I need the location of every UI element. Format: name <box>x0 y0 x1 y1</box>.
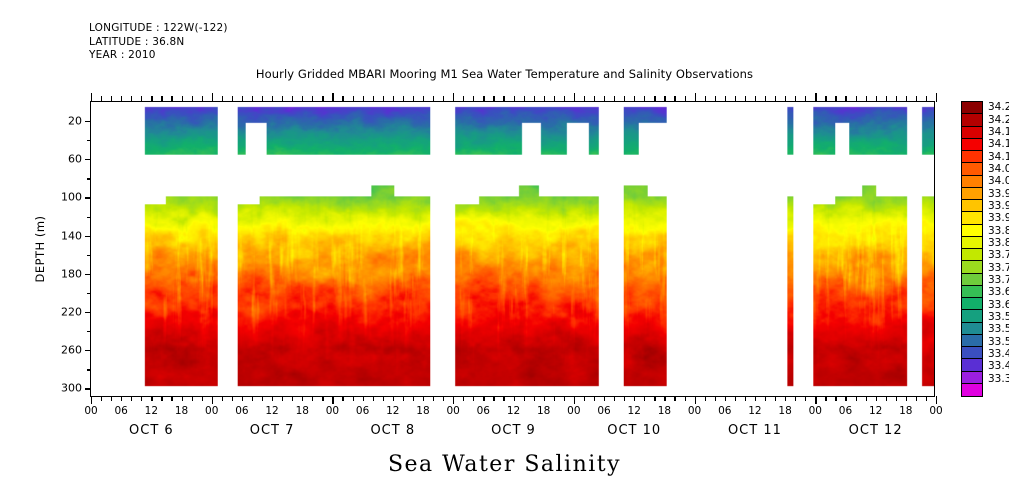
y-tick-label: 220 <box>61 306 82 319</box>
x-tick-top <box>614 96 615 102</box>
x-tick-top <box>342 96 343 102</box>
colorbar-tick-label: 33.46 <box>988 348 1009 360</box>
x-tick-top <box>725 96 726 102</box>
colorbar-tick-label: 33.82 <box>988 237 1009 249</box>
colorbar-swatch <box>962 176 982 188</box>
colorbar-tick-label: 33.86 <box>988 225 1009 237</box>
latitude-text: LATITUDE : 36.8N <box>89 36 228 50</box>
x-tick <box>685 396 686 401</box>
x-tick-top <box>262 96 263 102</box>
x-tick-top <box>654 96 655 102</box>
x-major-tick <box>815 396 816 404</box>
x-tick-top <box>916 96 917 102</box>
y-tick-label: 100 <box>61 191 82 204</box>
x-tick <box>232 396 233 401</box>
x-tick-top <box>423 96 424 102</box>
x-tick <box>141 396 142 401</box>
x-tick-top <box>554 96 555 102</box>
x-tick <box>493 396 494 401</box>
x-tick-top <box>171 96 172 102</box>
x-tick-top <box>463 96 464 102</box>
colorbar-tick-label: 34.1 <box>988 151 1009 163</box>
x-tick-top <box>524 96 525 102</box>
x-tick-top <box>202 96 203 102</box>
colorbar-tick-label: 33.98 <box>988 188 1009 200</box>
x-tick-top <box>272 96 273 102</box>
x-day-label: OCT 12 <box>849 423 903 438</box>
x-tick <box>292 396 293 401</box>
x-tick <box>101 396 102 401</box>
x-tick <box>614 396 615 401</box>
x-tick-top <box>503 96 504 102</box>
x-tick <box>302 396 303 401</box>
x-tick <box>121 396 122 401</box>
x-tick-top <box>715 96 716 102</box>
colorbar-swatch <box>962 139 982 151</box>
x-hour-label: 06 <box>839 405 852 417</box>
colorbar-tick-label: 33.78 <box>988 249 1009 261</box>
x-day-label: OCT 9 <box>491 423 536 438</box>
x-tick-top <box>353 96 354 102</box>
x-tick-top <box>815 93 816 102</box>
colorbar-swatch <box>962 225 982 237</box>
x-tick-top <box>192 96 193 102</box>
x-tick <box>443 396 444 401</box>
metadata-block: LONGITUDE : 122W(-122) LATITUDE : 36.8N … <box>89 22 228 63</box>
x-tick-top <box>322 96 323 102</box>
x-major-tick <box>574 396 575 404</box>
salinity-heatmap <box>91 102 934 396</box>
x-tick <box>554 396 555 401</box>
x-tick-top <box>584 96 585 102</box>
x-tick-top <box>594 96 595 102</box>
x-tick-top <box>906 96 907 102</box>
x-hour-label: 00 <box>929 405 942 417</box>
colorbar-swatch <box>962 335 982 347</box>
x-hour-label: 18 <box>175 405 188 417</box>
x-hour-label: 12 <box>145 405 158 417</box>
x-major-tick <box>453 396 454 404</box>
x-tick <box>423 396 424 401</box>
colorbar-swatch <box>962 200 982 212</box>
x-tick <box>222 396 223 401</box>
colorbar-tick-label: 33.54 <box>988 323 1009 335</box>
colorbar-tick-label: 34.22 <box>988 114 1009 126</box>
x-tick-top <box>745 96 746 102</box>
x-day-label: OCT 6 <box>129 423 174 438</box>
x-hour-label: 00 <box>84 405 97 417</box>
x-tick <box>876 396 877 401</box>
x-tick <box>845 396 846 401</box>
x-tick <box>473 396 474 401</box>
x-tick <box>795 396 796 401</box>
x-hour-label: 06 <box>477 405 490 417</box>
x-tick <box>151 396 152 401</box>
x-hour-label: 12 <box>265 405 278 417</box>
colorbar-swatch <box>962 188 982 200</box>
x-day-label: OCT 11 <box>728 423 782 438</box>
x-tick <box>282 396 283 401</box>
x-tick <box>725 396 726 401</box>
x-tick-top <box>222 96 223 102</box>
x-tick <box>272 396 273 401</box>
x-tick-top <box>302 96 303 102</box>
x-tick-top <box>443 96 444 102</box>
x-tick <box>594 396 595 401</box>
longitude-text: LONGITUDE : 122W(-122) <box>89 22 228 36</box>
x-tick <box>805 396 806 401</box>
colorbar-swatch <box>962 102 982 114</box>
colorbar-tick-label: 33.74 <box>988 262 1009 274</box>
x-tick <box>896 396 897 401</box>
x-hour-label: 00 <box>809 405 822 417</box>
x-tick <box>886 396 887 401</box>
colorbar-tick-label: 34.02 <box>988 175 1009 187</box>
x-hour-label: 00 <box>205 405 218 417</box>
colorbar-swatch <box>962 212 982 224</box>
x-hour-label: 00 <box>326 405 339 417</box>
heatmap-canvas-wrap <box>91 102 934 396</box>
x-tick-top <box>674 96 675 102</box>
x-tick <box>182 396 183 401</box>
colorbar-swatch <box>962 151 982 163</box>
x-tick <box>654 396 655 401</box>
x-hour-label: 00 <box>688 405 701 417</box>
y-tick-label: 180 <box>61 267 82 280</box>
x-tick <box>483 396 484 401</box>
colorbar-tick-label: 33.62 <box>988 299 1009 311</box>
colorbar-tick-label: 33.58 <box>988 311 1009 323</box>
x-tick <box>785 396 786 401</box>
x-tick-top <box>856 96 857 102</box>
x-tick-top <box>634 96 635 102</box>
y-tick-label: 60 <box>68 153 82 166</box>
x-tick <box>463 396 464 401</box>
colorbar-tick-label: 34.18 <box>988 126 1009 138</box>
x-tick <box>202 396 203 401</box>
x-tick-top <box>403 96 404 102</box>
x-tick-top <box>775 96 776 102</box>
x-tick-top <box>473 96 474 102</box>
x-tick-top <box>936 93 937 102</box>
chart-title: Hourly Gridded MBARI Mooring M1 Sea Wate… <box>0 67 1009 81</box>
x-major-tick <box>936 396 937 404</box>
x-tick-top <box>151 96 152 102</box>
x-tick-top <box>363 96 364 102</box>
x-tick-top <box>735 96 736 102</box>
x-tick-top <box>141 96 142 102</box>
x-tick-top <box>926 96 927 102</box>
x-major-tick <box>695 396 696 404</box>
colorbar-swatch <box>962 310 982 322</box>
y-tick <box>85 159 91 160</box>
x-hour-label: 00 <box>446 405 459 417</box>
x-hour-label: 06 <box>597 405 610 417</box>
x-tick <box>765 396 766 401</box>
x-tick-top <box>564 96 565 102</box>
y-tick <box>85 236 91 237</box>
x-tick-top <box>212 93 213 102</box>
x-tick <box>564 396 565 401</box>
colorbar-swatch <box>962 323 982 335</box>
x-hour-label: 18 <box>296 405 309 417</box>
year-text: YEAR : 2010 <box>89 49 228 63</box>
colorbar-swatch <box>962 114 982 126</box>
colorbar-tick-label: 33.94 <box>988 200 1009 212</box>
x-tick-top <box>483 96 484 102</box>
colorbar-tick-label: 33.66 <box>988 286 1009 298</box>
x-tick-top <box>805 96 806 102</box>
x-tick-top <box>755 96 756 102</box>
x-tick-top <box>292 96 293 102</box>
x-tick-top <box>312 96 313 102</box>
x-tick-top <box>534 96 535 102</box>
y-tick <box>85 350 91 351</box>
x-hour-label: 12 <box>869 405 882 417</box>
x-tick-top <box>373 96 374 102</box>
x-tick <box>735 396 736 401</box>
y-tick-label: 140 <box>61 229 82 242</box>
x-tick <box>171 396 172 401</box>
x-tick-top <box>886 96 887 102</box>
x-tick-top <box>604 96 605 102</box>
x-hour-label: 06 <box>235 405 248 417</box>
x-tick-top <box>574 93 575 102</box>
y-tick-label: 260 <box>61 344 82 357</box>
y-tick <box>85 312 91 313</box>
x-tick-top <box>825 96 826 102</box>
x-hour-label: 06 <box>114 405 127 417</box>
x-tick-top <box>242 96 243 102</box>
y-tick <box>85 388 91 389</box>
x-tick <box>906 396 907 401</box>
x-hour-label: 18 <box>658 405 671 417</box>
x-hour-label: 18 <box>416 405 429 417</box>
x-tick <box>604 396 605 401</box>
colorbar-tick-label: 33.42 <box>988 360 1009 372</box>
x-tick <box>242 396 243 401</box>
x-tick-top <box>101 96 102 102</box>
colorbar-swatch <box>962 237 982 249</box>
x-tick-top <box>282 96 283 102</box>
x-tick-top <box>433 96 434 102</box>
x-tick <box>373 396 374 401</box>
y-tick-label: 20 <box>68 115 82 128</box>
x-tick <box>755 396 756 401</box>
x-tick-top <box>876 96 877 102</box>
variable-title: Sea Water Salinity <box>0 452 1009 477</box>
colorbar-tick-label: 33.9 <box>988 212 1009 224</box>
x-hour-label: 18 <box>537 405 550 417</box>
x-hour-label: 12 <box>507 405 520 417</box>
colorbar-swatch <box>962 359 982 371</box>
x-tick-top <box>644 96 645 102</box>
x-tick <box>524 396 525 401</box>
x-tick-top <box>514 96 515 102</box>
x-tick <box>835 396 836 401</box>
x-tick-top <box>232 96 233 102</box>
x-tick <box>403 396 404 401</box>
colorbar-swatch <box>962 163 982 175</box>
colorbar-tick-label: 34.06 <box>988 163 1009 175</box>
x-tick <box>866 396 867 401</box>
x-tick-top <box>785 96 786 102</box>
x-tick <box>634 396 635 401</box>
x-tick <box>856 396 857 401</box>
x-tick-top <box>664 96 665 102</box>
x-day-label: OCT 7 <box>250 423 295 438</box>
colorbar-tick-label: 33.5 <box>988 336 1009 348</box>
x-hour-label: 12 <box>748 405 761 417</box>
x-tick <box>775 396 776 401</box>
x-hour-label: 06 <box>718 405 731 417</box>
x-tick <box>252 396 253 401</box>
colorbar-swatch <box>962 298 982 310</box>
y-tick <box>85 121 91 122</box>
x-tick-top <box>765 96 766 102</box>
x-tick-top <box>252 96 253 102</box>
x-tick <box>916 396 917 401</box>
y-minor-tick <box>87 178 91 179</box>
x-tick <box>413 396 414 401</box>
x-hour-label: 18 <box>778 405 791 417</box>
x-tick-top <box>111 96 112 102</box>
x-tick <box>825 396 826 401</box>
colorbar-swatch <box>962 261 982 273</box>
colorbar <box>961 101 983 397</box>
x-tick <box>534 396 535 401</box>
y-minor-tick <box>87 293 91 294</box>
x-tick <box>353 396 354 401</box>
x-tick <box>131 396 132 401</box>
x-tick-top <box>383 96 384 102</box>
colorbar-swatch <box>962 347 982 359</box>
x-tick <box>111 396 112 401</box>
x-tick <box>262 396 263 401</box>
colorbar-swatch <box>962 286 982 298</box>
x-hour-label: 18 <box>899 405 912 417</box>
x-tick-top <box>453 93 454 102</box>
colorbar-swatch <box>962 384 982 396</box>
plot-area: 2060100140180220260300000612180006121800… <box>90 101 935 397</box>
x-hour-label: 00 <box>567 405 580 417</box>
x-tick-top <box>685 96 686 102</box>
x-tick-top <box>493 96 494 102</box>
x-tick-top <box>896 96 897 102</box>
x-tick-top <box>695 93 696 102</box>
y-minor-tick <box>87 255 91 256</box>
colorbar-swatch <box>962 127 982 139</box>
x-tick <box>745 396 746 401</box>
x-tick-top <box>544 96 545 102</box>
x-major-tick <box>212 396 213 404</box>
x-tick <box>644 396 645 401</box>
x-day-label: OCT 8 <box>370 423 415 438</box>
x-tick <box>322 396 323 401</box>
x-tick-top <box>332 93 333 102</box>
x-tick-top <box>182 96 183 102</box>
colorbar-swatch <box>962 372 982 384</box>
x-tick <box>664 396 665 401</box>
colorbar-tick-label: 33.7 <box>988 274 1009 286</box>
x-major-tick <box>332 396 333 404</box>
colorbar-tick-label: 34.14 <box>988 138 1009 150</box>
x-tick <box>503 396 504 401</box>
y-tick <box>85 274 91 275</box>
x-hour-label: 06 <box>356 405 369 417</box>
x-tick <box>584 396 585 401</box>
x-tick <box>715 396 716 401</box>
y-minor-tick <box>87 217 91 218</box>
x-major-tick <box>91 396 92 404</box>
x-tick <box>433 396 434 401</box>
x-tick <box>514 396 515 401</box>
x-tick <box>674 396 675 401</box>
x-tick <box>161 396 162 401</box>
x-tick-top <box>161 96 162 102</box>
x-hour-label: 12 <box>386 405 399 417</box>
x-tick <box>383 396 384 401</box>
colorbar-swatch <box>962 274 982 286</box>
x-tick-top <box>845 96 846 102</box>
x-tick-top <box>624 96 625 102</box>
colorbar-swatch <box>962 249 982 261</box>
colorbar-tick-label: 34.26 <box>988 101 1009 113</box>
x-day-label: OCT 10 <box>607 423 661 438</box>
x-tick <box>624 396 625 401</box>
x-tick <box>544 396 545 401</box>
x-tick <box>705 396 706 401</box>
x-tick-top <box>121 96 122 102</box>
x-hour-label: 12 <box>628 405 641 417</box>
y-minor-tick <box>87 140 91 141</box>
x-tick-top <box>393 96 394 102</box>
colorbar-tick-label: 33.38 <box>988 373 1009 385</box>
x-tick-top <box>835 96 836 102</box>
y-tick-label: 300 <box>61 382 82 395</box>
x-tick-top <box>91 93 92 102</box>
x-tick-top <box>795 96 796 102</box>
y-tick <box>85 197 91 198</box>
y-minor-tick <box>87 369 91 370</box>
x-tick <box>312 396 313 401</box>
y-minor-tick <box>87 331 91 332</box>
x-tick <box>192 396 193 401</box>
x-tick-top <box>705 96 706 102</box>
x-tick <box>363 396 364 401</box>
y-axis-title: DEPTH (m) <box>33 215 47 282</box>
x-tick-top <box>131 96 132 102</box>
x-tick-top <box>866 96 867 102</box>
x-tick-top <box>413 96 414 102</box>
x-tick <box>926 396 927 401</box>
x-tick <box>342 396 343 401</box>
x-tick <box>393 396 394 401</box>
